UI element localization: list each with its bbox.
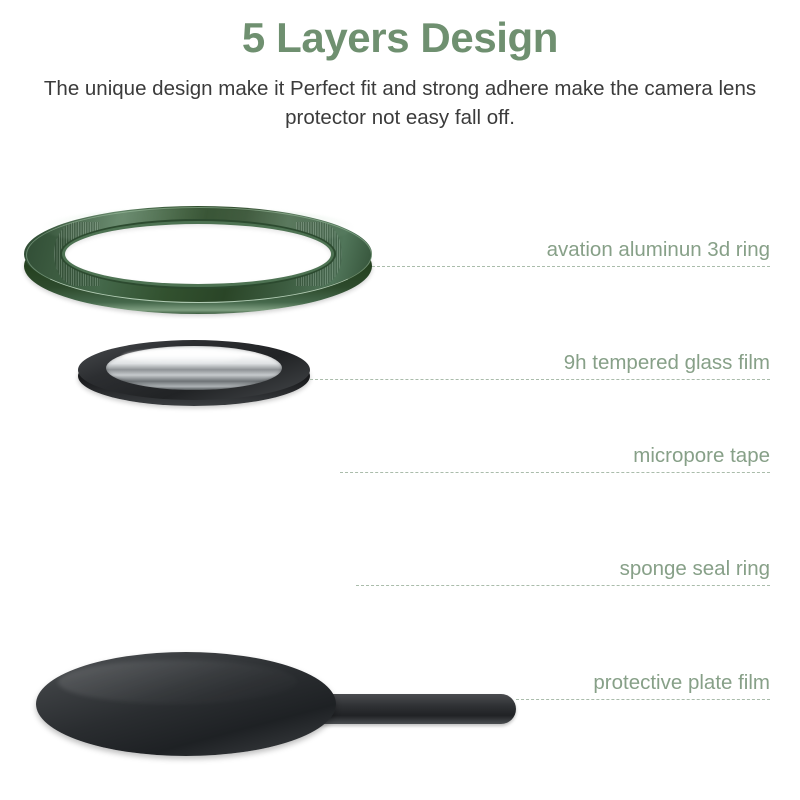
- leader-line-tempered-glass: [310, 379, 770, 380]
- layer-label-tempered-glass: 9h tempered glass film: [370, 351, 770, 375]
- layer-label-sponge-seal: sponge seal ring: [370, 557, 770, 581]
- leader-line-micropore-tape: [340, 472, 770, 473]
- ring-inner-bore: [65, 224, 331, 284]
- leader-line-protective-plate: [516, 699, 770, 700]
- micropore-annulus: [42, 428, 342, 508]
- protective-plate-film-graphic: [36, 652, 516, 756]
- layer-label-micropore-tape: micropore tape: [370, 444, 770, 468]
- tempered-glass-film-graphic: [78, 340, 310, 412]
- micropore-tape-graphic: [42, 428, 342, 508]
- sponge-seal-ring-graphic: [26, 538, 356, 624]
- leader-line-sponge-seal: [356, 585, 770, 586]
- glass-highlight-glint: [122, 349, 242, 364]
- leader-line-aluminum-ring: [372, 266, 770, 267]
- aluminum-ring-graphic: [24, 206, 372, 324]
- plate-sheen: [58, 660, 298, 704]
- layer-label-protective-plate: protective plate film: [370, 671, 770, 695]
- layer-label-aluminum-ring: avation aluminun 3d ring: [370, 238, 770, 262]
- exploded-layer-diagram: avation aluminun 3d ring 9h tempered gla…: [0, 0, 800, 800]
- sponge-annulus: [26, 538, 356, 624]
